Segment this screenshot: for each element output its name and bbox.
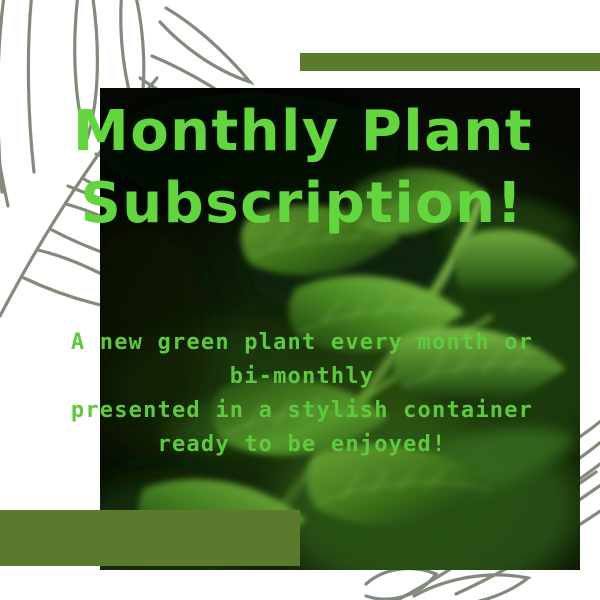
plant-subscription-poster: Monthly Plant Subscription! A new green … (0, 0, 600, 600)
body-line-3: presented in a stylish container (0, 394, 600, 428)
headline-line-2: Subscription! (0, 168, 600, 240)
body-line-2: bi-monthly (0, 360, 600, 394)
headline-line-1: Monthly Plant (0, 96, 600, 168)
body-line-4: ready to be enjoyed! (0, 428, 600, 462)
body-line-1: A new green plant every month or (0, 326, 600, 360)
headline: Monthly Plant Subscription! (0, 96, 600, 240)
olive-accent-bar-bottom (0, 510, 300, 566)
body-copy: A new green plant every month or bi-mont… (0, 326, 600, 462)
olive-accent-bar-top (300, 53, 600, 71)
